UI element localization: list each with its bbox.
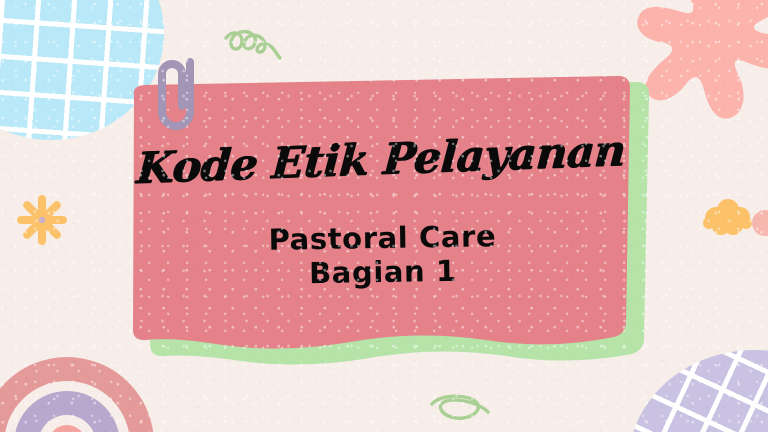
salmon-blob-decoration [636, 0, 768, 136]
page-title: Kode Etik Pelayanan [135, 130, 626, 191]
card-text-block: Kode Etik Pelayanan Pastoral Care Bagian… [128, 70, 636, 358]
presentation-slide: Kode Etik Pelayanan Pastoral Care Bagian… [0, 0, 768, 432]
orange-cloud-decoration [700, 196, 756, 236]
subtitle-line-1: Pastoral Care [268, 220, 496, 257]
sparkle-star-decoration [14, 192, 70, 248]
squiggle-top-decoration [218, 14, 296, 70]
subtitle-line-2: Bagian 1 [269, 254, 497, 291]
subtitle-block: Pastoral Care Bagian 1 [268, 220, 497, 291]
squiggle-bottom-decoration [424, 388, 498, 428]
title-card: Kode Etik Pelayanan Pastoral Care Bagian… [130, 74, 654, 372]
